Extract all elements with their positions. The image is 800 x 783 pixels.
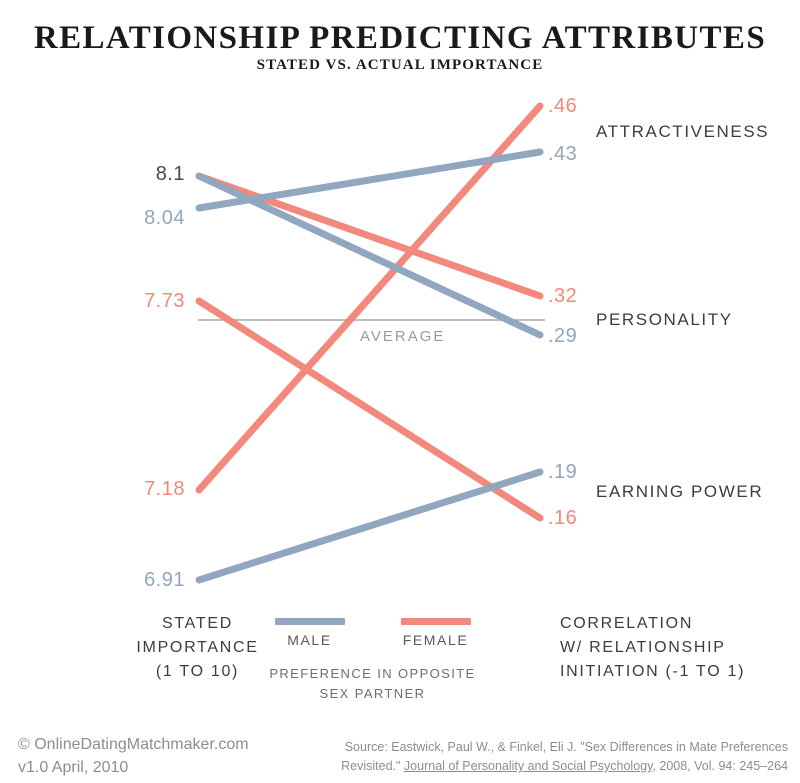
- axis-caption-right-line3: INITIATION (-1 TO 1): [560, 660, 745, 684]
- legend-label-female: FEMALE: [397, 632, 475, 648]
- value-label-stated-7-73: 7.73: [65, 290, 185, 313]
- value-label-corr-0-32: .32: [548, 285, 577, 308]
- attribute-label-earning-power: EARNING POWER: [596, 482, 763, 502]
- value-label-corr-0-16: .16: [548, 507, 577, 530]
- average-line-label: AVERAGE: [360, 328, 445, 345]
- footer-source: Source: Eastwick, Paul W., & Finkel, Eli…: [318, 738, 788, 776]
- value-label-corr-0-46: .46: [548, 95, 577, 118]
- legend-caption: PREFERENCE IN OPPOSITE SEX PARTNER: [255, 664, 490, 704]
- footer-source-journal-link[interactable]: Journal of Personality and Social Psycho…: [404, 759, 653, 773]
- footer-source-line1: Source: Eastwick, Paul W., & Finkel, Eli…: [318, 738, 788, 757]
- footer-source-line2-prefix: Revisited.": [341, 759, 404, 773]
- attribute-label-attractiveness: ATTRACTIVENESS: [596, 122, 769, 142]
- legend-swatch-female-icon: [401, 618, 471, 625]
- legend-item-male[interactable]: MALE: [271, 612, 349, 648]
- value-label-stated-7-18: 7.18: [65, 478, 185, 501]
- footer-credit-line2: v1.0 April, 2010: [18, 756, 249, 779]
- chart-legend: MALE FEMALE PREFERENCE IN OPPOSITE SEX P…: [255, 612, 490, 704]
- value-label-corr-0-19: .19: [548, 461, 577, 484]
- axis-caption-right: CORRELATION W/ RELATIONSHIP INITIATION (…: [560, 612, 745, 684]
- value-label-corr-0-29: .29: [548, 325, 577, 348]
- axis-caption-right-line2: W/ RELATIONSHIP: [560, 636, 745, 660]
- footer-source-line2: Revisited." Journal of Personality and S…: [318, 757, 788, 776]
- value-label-corr-0-43: .43: [548, 143, 577, 166]
- male-line-attractiveness: [199, 152, 540, 208]
- footer-source-line2-suffix: , 2008, Vol. 94: 245–264: [652, 759, 788, 773]
- footer-credit: © OnlineDatingMatchmaker.com v1.0 April,…: [18, 733, 249, 779]
- value-label-stated-8-1: 8.1: [85, 163, 185, 186]
- female-line-personality: [199, 176, 540, 296]
- legend-item-female[interactable]: FEMALE: [397, 612, 475, 648]
- value-label-stated-8-04: 8.04: [65, 207, 185, 230]
- attribute-label-personality: PERSONALITY: [596, 310, 733, 330]
- axis-caption-right-line1: CORRELATION: [560, 612, 745, 636]
- legend-label-male: MALE: [271, 632, 349, 648]
- legend-caption-line2: SEX PARTNER: [255, 684, 490, 704]
- male-line-earning-power: [199, 472, 540, 580]
- value-label-stated-6-91: 6.91: [65, 569, 185, 592]
- legend-caption-line1: PREFERENCE IN OPPOSITE: [255, 664, 490, 684]
- footer-credit-line1: © OnlineDatingMatchmaker.com: [18, 733, 249, 756]
- legend-swatch-male-icon: [275, 618, 345, 625]
